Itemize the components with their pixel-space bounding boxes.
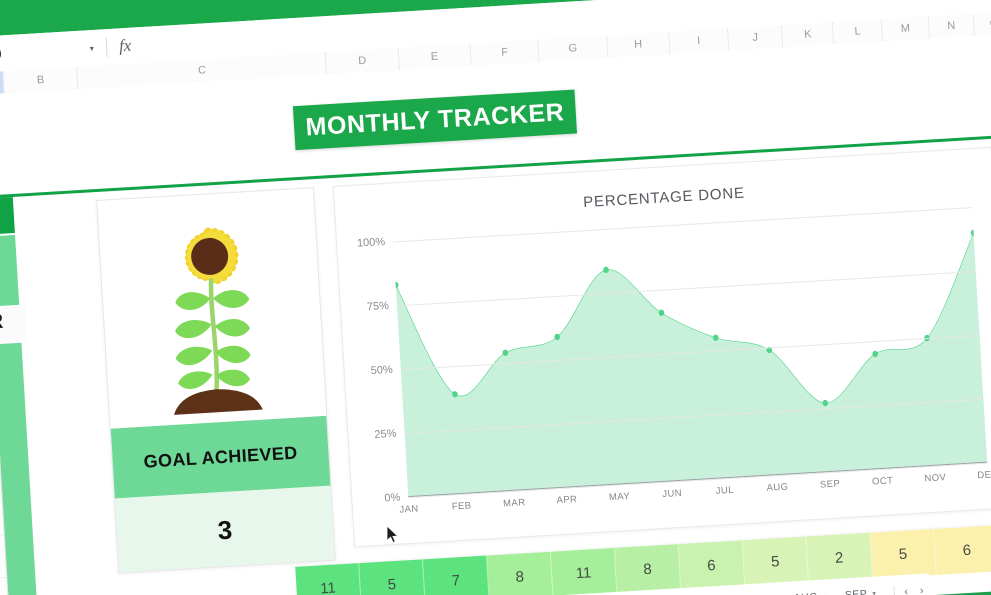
divider — [105, 37, 107, 57]
column-header-cell[interactable]: M — [882, 16, 930, 41]
goal-achieved-label: GOAL ACHIEVED — [143, 442, 298, 472]
x-axis-tick-label: NOV — [924, 472, 946, 484]
goal-card: GOAL ACHIEVED 3 — [96, 187, 336, 573]
chevron-down-icon[interactable]: ▾ — [872, 589, 876, 595]
data-point-marker — [502, 350, 508, 357]
chart-plot-area: 0%25%50%75%100%JANFEBMARAPRMAYJUNJULAUGS… — [393, 207, 987, 497]
x-axis-tick-label: JAN — [399, 503, 419, 515]
prev-sheet-icon[interactable]: ‹ — [904, 586, 908, 595]
data-point-marker — [452, 391, 458, 398]
sheet-tab[interactable]: JUNE▾ — [674, 589, 732, 595]
goal-achieved-value-box: 3 — [115, 486, 335, 574]
y-axis-tick-label: 100% — [357, 236, 386, 250]
x-axis-tick-label: AUG — [766, 482, 788, 494]
function-icon[interactable]: fx — [118, 36, 131, 57]
data-point-marker — [603, 267, 609, 274]
sheet-nav-arrows: ‹› — [893, 585, 924, 595]
mouse-cursor-icon — [386, 525, 399, 544]
accent-letter-mid: R — [0, 310, 4, 335]
goal-achieved-header: GOAL ACHIEVED — [111, 416, 331, 499]
heatmap-cell[interactable]: 5 — [359, 559, 426, 595]
column-header-cell[interactable]: O — [974, 11, 991, 35]
data-point-marker — [658, 309, 664, 316]
chevron-down-icon[interactable]: ▾ — [90, 43, 95, 52]
sheet-tab[interactable]: AUG▾ — [784, 583, 837, 595]
data-point-marker — [554, 334, 560, 341]
x-axis-tick-label: APR — [556, 494, 577, 506]
heatmap-cell[interactable]: 8 — [487, 552, 554, 595]
accent-gap: R — [0, 304, 27, 344]
sheet-tab[interactable]: SEP▾ — [835, 580, 886, 595]
x-axis-tick-label: MAY — [609, 491, 631, 503]
sheet-tab[interactable]: JULY▾ — [730, 586, 785, 595]
heatmap-cell[interactable]: 11 — [551, 548, 618, 595]
x-axis-tick-label: JUL — [715, 485, 734, 497]
y-axis-tick-label: 25% — [374, 428, 397, 441]
x-axis-tick-label: JUN — [662, 488, 682, 500]
data-point-marker — [393, 282, 399, 289]
heatmap-cell[interactable]: 11 — [295, 563, 362, 595]
sunflower-icon — [97, 188, 328, 429]
column-header-cell[interactable]: N — [929, 14, 975, 39]
column-header-cell[interactable]: L — [833, 19, 883, 44]
sheet-tab-label: AUG — [793, 591, 818, 595]
accent-block-dark: R — [0, 197, 15, 235]
spreadsheet-surface: A49 ▾ fx B C D E F G H I J K L M N O P 1… — [0, 0, 991, 595]
x-axis-tick-label: DEC — [977, 469, 991, 481]
next-sheet-icon[interactable]: › — [920, 585, 924, 595]
data-point-marker — [822, 400, 828, 407]
name-box[interactable]: A49 ▾ — [0, 34, 105, 68]
sunflower-illustration — [97, 188, 326, 428]
data-point-marker — [971, 229, 977, 236]
screenshot-stage: A49 ▾ fx B C D E F G H I J K L M N O P 1… — [0, 0, 991, 595]
heatmap-cell[interactable]: 2 — [806, 533, 873, 583]
y-axis-tick-label: 50% — [370, 364, 393, 377]
data-point-marker — [872, 351, 878, 358]
column-header-cell[interactable]: K — [782, 22, 834, 47]
name-box-value: A49 — [0, 45, 3, 63]
percentage-done-chart-card: PERCENTAGE DONE 0%25%50%75%100%JANFEBMAR… — [333, 147, 991, 548]
heatmap-cell[interactable]: 6 — [679, 540, 746, 590]
x-axis-tick-label: OCT — [872, 475, 894, 487]
data-point-marker — [713, 334, 719, 341]
x-axis-tick-label: MAR — [503, 497, 526, 509]
heatmap-cell[interactable]: 7 — [423, 556, 490, 595]
sheet-tab-label: SEP — [845, 588, 868, 595]
banner-title: MONTHLY TRACKER — [305, 98, 565, 142]
heatmap-cell[interactable]: 6 — [934, 525, 991, 575]
y-axis-tick-label: 0% — [384, 492, 401, 505]
heatmap-cell[interactable]: 5 — [742, 537, 809, 587]
x-axis-tick-label: SEP — [820, 478, 841, 490]
heatmap-cell[interactable]: 5 — [870, 529, 937, 579]
x-axis-tick-label: FEB — [451, 500, 471, 512]
goal-achieved-value: 3 — [217, 514, 233, 546]
heatmap-cell[interactable]: 8 — [615, 544, 682, 594]
y-axis-tick-label: 75% — [367, 300, 390, 313]
